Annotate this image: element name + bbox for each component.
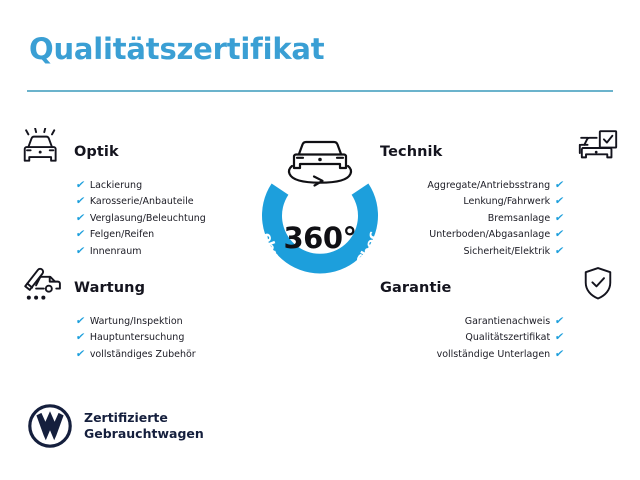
check-icon: ✔ (554, 349, 565, 360)
page-title: Qualitätszertifikat (29, 32, 324, 66)
check-icon: ✔ (554, 180, 565, 191)
badge-360-gebrauchtwagen-check: Gebrauchtwagen-Check 360° (241, 127, 399, 302)
footer-brand: Zertifizierte Gebrauchtwagen (28, 404, 204, 448)
list-item-label: vollständige Unterlagen (437, 347, 551, 363)
check-icon: ✔ (75, 213, 86, 224)
section-header-optik: Optik (20, 126, 260, 170)
list-item-label: Felgen/Reifen (90, 227, 154, 243)
list-item: ✔ Sicherheit/Elektrik (380, 244, 564, 260)
list-item-label: Wartung/Inspektion (90, 314, 183, 330)
title-divider (27, 90, 613, 92)
list-item: ✔ Hauptuntersuchung (76, 330, 260, 346)
list-item-label: Verglasung/Beleuchtung (90, 211, 206, 227)
check-icon: ✔ (554, 229, 565, 240)
list-item: ✔ Lackierung (76, 178, 260, 194)
list-item: ✔ Unterboden/Abgasanlage (380, 227, 564, 243)
check-list-garantie: ✔ Garantienachweis ✔ Qualitätszertifikat… (380, 314, 620, 363)
section-header-garantie: Garantie (380, 262, 620, 306)
car-rotate-icon (289, 142, 351, 186)
badge-ring-graphic: Gebrauchtwagen-Check (241, 127, 399, 302)
list-item: ✔ Bremsanlage (380, 211, 564, 227)
list-item-label: Qualitätszertifikat (465, 330, 550, 346)
section-title-wrap-wartung: Wartung (74, 271, 260, 297)
list-item: ✔ Aggregate/Antriebsstrang (380, 178, 564, 194)
badge-center-label: 360° (241, 221, 399, 255)
check-icon: ✔ (75, 349, 86, 360)
check-icon: ✔ (554, 196, 565, 207)
list-item: ✔ Garantienachweis (380, 314, 564, 330)
car-lift-checkbox-icon (576, 128, 620, 168)
section-title-wrap-technik: Technik (380, 135, 566, 161)
section-header-wartung: Wartung (20, 262, 260, 306)
check-icon: ✔ (75, 229, 86, 240)
list-item: ✔ vollständige Unterlagen (380, 347, 564, 363)
list-item: ✔ Felgen/Reifen (76, 227, 260, 243)
list-item: ✔ vollständiges Zubehör (76, 347, 260, 363)
section-title-wartung: Wartung (74, 280, 145, 296)
list-item-label: Lenkung/Fahrwerk (463, 194, 550, 210)
check-icon: ✔ (75, 316, 86, 327)
section-wartung: Wartung ✔ Wartung/Inspektion ✔ Hauptunte… (20, 262, 260, 363)
section-title-wrap-optik: Optik (74, 135, 260, 161)
footer-brand-line2: Gebrauchtwagen (84, 426, 204, 441)
list-item-label: Innenraum (90, 244, 142, 260)
list-item-label: vollständiges Zubehör (90, 347, 196, 363)
car-shine-icon (20, 128, 64, 168)
check-icon: ✔ (554, 332, 565, 343)
list-item-label: Sicherheit/Elektrik (464, 244, 551, 260)
list-item-label: Aggregate/Antriebsstrang (427, 178, 550, 194)
shield-check-icon (576, 264, 620, 304)
check-icon: ✔ (75, 332, 86, 343)
section-title-wrap-garantie: Garantie (380, 271, 566, 297)
section-title-optik: Optik (74, 144, 119, 160)
section-optik: Optik ✔ Lackierung ✔ Karosserie/Anbautei… (20, 126, 260, 260)
list-item: ✔ Karosserie/Anbauteile (76, 194, 260, 210)
section-technik: Technik ✔ Aggregate/Antriebsstrang ✔ Len… (380, 126, 620, 260)
check-icon: ✔ (554, 213, 565, 224)
footer-brand-text: Zertifizierte Gebrauchtwagen (84, 410, 204, 442)
list-item: ✔ Wartung/Inspektion (76, 314, 260, 330)
list-item-label: Lackierung (90, 178, 142, 194)
check-list-wartung: ✔ Wartung/Inspektion ✔ Hauptuntersuchung… (20, 314, 260, 363)
list-item: ✔ Lenkung/Fahrwerk (380, 194, 564, 210)
section-garantie: Garantie ✔ Garantienachweis ✔ Qualitätsz… (380, 262, 620, 363)
list-item-label: Hauptuntersuchung (90, 330, 185, 346)
check-icon: ✔ (75, 196, 86, 207)
check-list-optik: ✔ Lackierung ✔ Karosserie/Anbauteile ✔ V… (20, 178, 260, 260)
section-header-technik: Technik (380, 126, 620, 170)
list-item-label: Unterboden/Abgasanlage (429, 227, 550, 243)
list-item: ✔ Innenraum (76, 244, 260, 260)
list-item-label: Bremsanlage (488, 211, 550, 227)
check-icon: ✔ (75, 180, 86, 191)
check-icon: ✔ (554, 246, 565, 257)
vw-logo (28, 404, 72, 448)
footer-brand-line1: Zertifizierte (84, 410, 168, 425)
check-list-technik: ✔ Aggregate/Antriebsstrang ✔ Lenkung/Fah… (380, 178, 620, 260)
car-service-pen-icon (20, 264, 64, 304)
list-item: ✔ Verglasung/Beleuchtung (76, 211, 260, 227)
check-icon: ✔ (554, 316, 565, 327)
list-item: ✔ Qualitätszertifikat (380, 330, 564, 346)
list-item-label: Karosserie/Anbauteile (90, 194, 194, 210)
list-item-label: Garantienachweis (465, 314, 550, 330)
check-icon: ✔ (75, 246, 86, 257)
